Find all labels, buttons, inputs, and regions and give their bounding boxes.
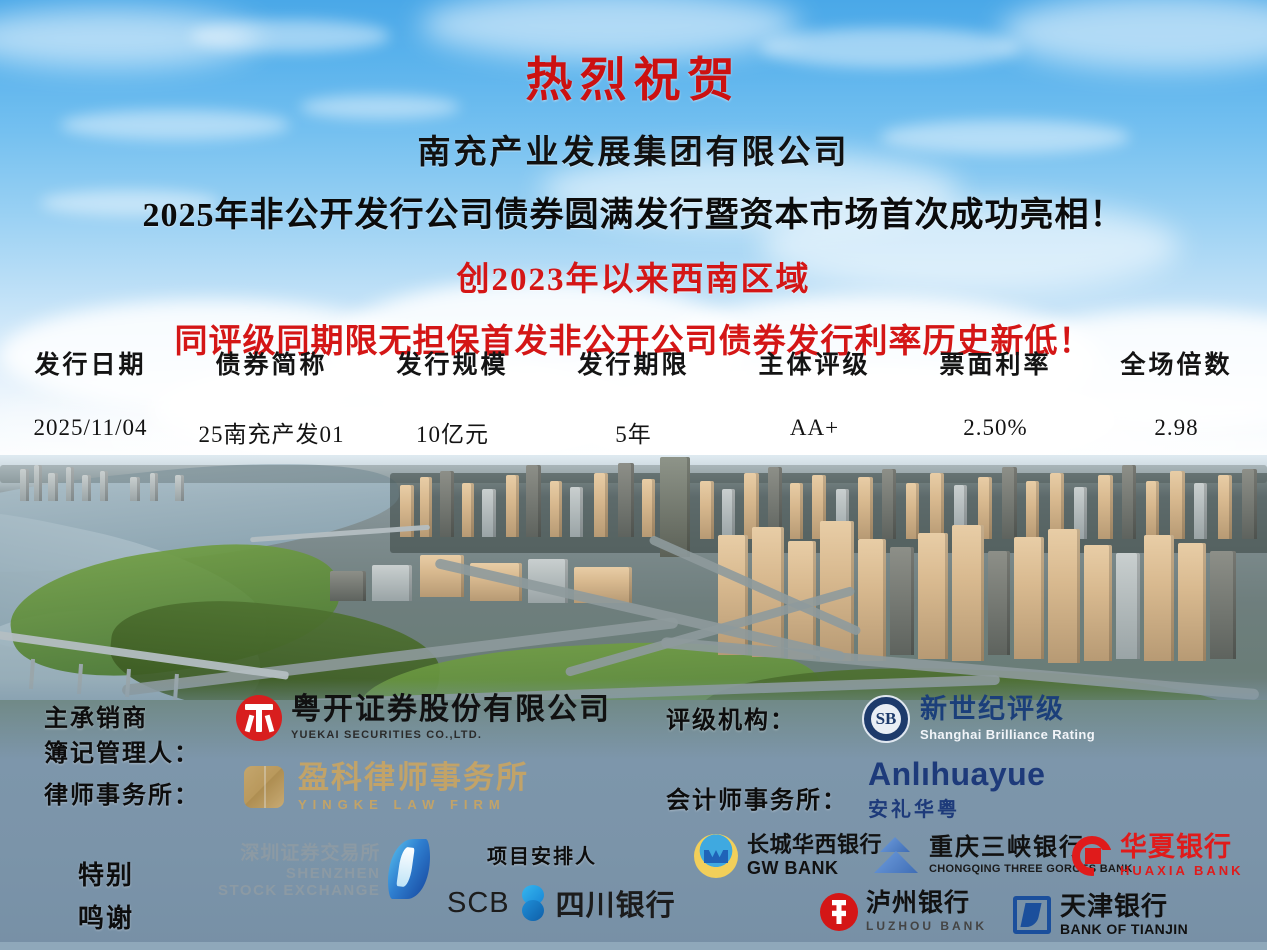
- label-rating-agency: 评级机构：: [666, 700, 796, 735]
- tianjin-icon: [1013, 896, 1051, 934]
- logo-huaxia-bank: 华夏银行 HUAXIA BANK: [1072, 834, 1244, 878]
- logo-bank-of-tianjin: 天津银行 BANK OF TIANJIN: [1013, 893, 1188, 937]
- huaxia-name-en: HUAXIA BANK: [1120, 863, 1244, 878]
- tianjin-name-cn: 天津银行: [1060, 893, 1188, 919]
- brilliance-seal-icon: SB: [862, 695, 910, 743]
- col-header-bid-multiple: 全场倍数: [1086, 345, 1267, 389]
- col-header-tenor: 发行期限: [543, 345, 724, 389]
- yingke-name-cn: 盈科律师事务所: [298, 762, 529, 793]
- col-header-bond-name: 债券简称: [181, 345, 362, 389]
- cell-issue-size: 10亿元: [362, 389, 543, 449]
- szse-leaf-icon: [388, 839, 430, 899]
- cell-coupon-rate: 2.50%: [905, 389, 1086, 449]
- congrats-title: 热烈祝贺: [0, 41, 1267, 110]
- bottom-strip: [0, 942, 1267, 950]
- luzhou-icon: [820, 893, 858, 931]
- logo-shenzhen-stock-exchange: 深圳证券交易所 SHENZHEN STOCK EXCHANGE: [218, 838, 430, 900]
- col-header-issuer-rating: 主体评级: [724, 345, 905, 389]
- headline-red-1: 创2023年以来西南区域: [0, 252, 1267, 300]
- label-bookrunner: 簿记管理人：: [44, 733, 200, 768]
- huaxia-name-cn: 华夏银行: [1120, 834, 1244, 861]
- cell-bond-name: 25南充产发01: [181, 389, 362, 449]
- logo-yuekai-securities: 粤开证券股份有限公司 YUEKAI SECURITIES CO.,LTD.: [236, 695, 611, 741]
- yuekai-name-cn: 粤开证券股份有限公司: [291, 695, 611, 725]
- luzhou-name-en: LUZHOU BANK: [866, 919, 987, 933]
- cqtgb-icon: [872, 835, 920, 875]
- gwbank-name-cn: 长城华西银行: [747, 833, 882, 856]
- tianjin-name-en: BANK OF TIANJIN: [1060, 921, 1188, 937]
- scb-abbr: SCB: [447, 887, 510, 920]
- brilliance-name-en: Shanghai Brilliance Rating: [920, 727, 1095, 742]
- headline-block: 热烈祝贺 南充产业发展集团有限公司 2025年非公开发行公司债券圆满发行暨资本市…: [0, 0, 1267, 362]
- cell-issue-date: 2025/11/04: [0, 389, 181, 449]
- anlihuayue-name-en: Anlıhuayue: [868, 758, 1045, 790]
- label-project-arranger: 项目安排人: [487, 840, 597, 869]
- table-header-row: 发行日期 债券简称 发行规模 发行期限 主体评级 票面利率 全场倍数: [0, 345, 1267, 389]
- col-header-issue-size: 发行规模: [362, 345, 543, 389]
- cell-issuer-rating: AA+: [724, 389, 905, 449]
- logo-sichuan-bank: SCB 四川银行: [447, 882, 676, 924]
- label-lead-underwriter-line1: 主承销商: [44, 698, 148, 733]
- scb-icon: [518, 885, 548, 921]
- label-accounting-firm: 会计师事务所：: [666, 780, 848, 815]
- logo-anlihuayue: Anlıhuayue 安礼华粤: [868, 758, 1045, 822]
- label-law-firm: 律师事务所：: [44, 775, 200, 810]
- yingke-icon: [240, 763, 288, 811]
- col-header-coupon-rate: 票面利率: [905, 345, 1086, 389]
- szse-name-cn: 深圳证券交易所: [218, 838, 380, 865]
- logo-yingke-law-firm: 盈科律师事务所 YINGKE LAW FIRM: [240, 762, 529, 812]
- szse-name-en-line1: SHENZHEN: [218, 865, 380, 882]
- yuekai-icon: [236, 695, 282, 741]
- company-name: 南充产业发展集团有限公司: [0, 125, 1267, 173]
- table-row: 2025/11/04 25南充产发01 10亿元 5年 AA+ 2.50% 2.…: [0, 389, 1267, 449]
- huaxia-icon: [1072, 836, 1112, 876]
- headline-main: 2025年非公开发行公司债券圆满发行暨资本市场首次成功亮相！: [0, 187, 1267, 236]
- bond-summary-table: 发行日期 债券简称 发行规模 发行期限 主体评级 票面利率 全场倍数 2025/…: [0, 345, 1267, 449]
- logo-gw-bank: 长城华西银行 GW BANK: [694, 833, 882, 879]
- cell-bid-multiple: 2.98: [1086, 389, 1267, 449]
- brilliance-monogram: SB: [871, 704, 901, 734]
- logo-luzhou-bank: 泸州银行 LUZHOU BANK: [820, 891, 987, 933]
- scb-name-cn: 四川银行: [556, 882, 676, 924]
- gwbank-name-en: GW BANK: [747, 858, 882, 879]
- label-special-thanks-line2: 鸣谢: [78, 898, 134, 935]
- label-special-thanks-line1: 特别: [78, 855, 134, 892]
- col-header-issue-date: 发行日期: [0, 345, 181, 389]
- brilliance-name-cn: 新世纪评级: [920, 696, 1095, 723]
- yingke-name-en: YINGKE LAW FIRM: [298, 797, 529, 812]
- anlihuayue-name-cn: 安礼华粤: [868, 793, 1045, 822]
- szse-name-en-line2: STOCK EXCHANGE: [218, 882, 380, 899]
- yuekai-name-en: YUEKAI SECURITIES CO.,LTD.: [291, 729, 611, 741]
- luzhou-name-cn: 泸州银行: [866, 891, 987, 916]
- logo-shanghai-brilliance-rating: SB 新世纪评级 Shanghai Brilliance Rating: [862, 695, 1095, 743]
- gwbank-icon: [694, 834, 738, 878]
- poster-root: 热烈祝贺 南充产业发展集团有限公司 2025年非公开发行公司债券圆满发行暨资本市…: [0, 0, 1267, 950]
- cell-tenor: 5年: [543, 389, 724, 449]
- cityscape-photo: [0, 455, 1267, 725]
